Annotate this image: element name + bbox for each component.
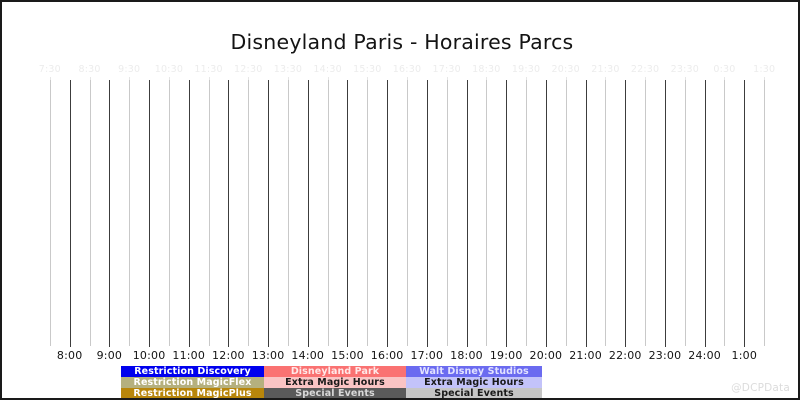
bottom-tick-mark — [149, 342, 150, 347]
gridline-minor — [447, 80, 448, 342]
bottom-tick-label: 15:00 — [331, 349, 364, 362]
gridline-minor — [685, 80, 686, 342]
legend-item-special-events[interactable]: Special Events — [406, 388, 542, 399]
gridline-minor — [169, 80, 170, 342]
gridline-minor — [209, 80, 210, 342]
gridline-major — [70, 80, 71, 342]
bottom-tick-mark — [347, 342, 348, 347]
gridline-minor — [248, 80, 249, 342]
gridline-minor — [724, 80, 725, 342]
gridline-major — [387, 80, 388, 342]
bottom-time-axis: 8:009:0010:0011:0012:0013:0014:0015:0016… — [30, 342, 784, 364]
bottom-tick-label: 10:00 — [133, 349, 166, 362]
bottom-minor-tick-mark — [526, 342, 527, 346]
bottom-minor-tick-mark — [248, 342, 249, 346]
bottom-tick-label: 12:00 — [212, 349, 245, 362]
top-tick-label: 9:30 — [118, 64, 140, 75]
gridline-major — [347, 80, 348, 342]
bottom-tick-mark — [427, 342, 428, 347]
bottom-tick-mark — [189, 342, 190, 347]
bottom-minor-tick-mark — [447, 342, 448, 346]
bottom-minor-tick-mark — [367, 342, 368, 346]
top-tick-label: 7:30 — [39, 64, 61, 75]
chart-figure: Disneyland Paris - Horaires Parcs 7:308:… — [0, 0, 800, 400]
top-tick-label: 19:30 — [512, 64, 540, 75]
top-tick-label: 1:30 — [753, 64, 775, 75]
bottom-tick-label: 18:00 — [450, 349, 483, 362]
bottom-tick-label: 13:00 — [252, 349, 285, 362]
watermark: @DCPData — [731, 382, 790, 394]
bottom-tick-label: 20:00 — [530, 349, 563, 362]
bottom-minor-tick-mark — [209, 342, 210, 346]
bottom-tick-mark — [228, 342, 229, 347]
top-tick-label: 15:30 — [353, 64, 381, 75]
bottom-minor-tick-mark — [288, 342, 289, 346]
top-tick-label: 17:30 — [432, 64, 460, 75]
legend-item-special-events[interactable]: Special Events — [264, 388, 406, 399]
bottom-tick-mark — [546, 342, 547, 347]
gridline-minor — [90, 80, 91, 342]
bottom-tick-label: 9:00 — [97, 349, 123, 362]
top-tick-label: 12:30 — [234, 64, 262, 75]
bottom-minor-tick-mark — [90, 342, 91, 346]
gridline-major — [189, 80, 190, 342]
gridline-minor — [486, 80, 487, 342]
gridline-minor — [129, 80, 130, 342]
gridline-major — [744, 80, 745, 342]
bottom-tick-label: 24:00 — [688, 349, 721, 362]
bottom-tick-label: 1:00 — [732, 349, 758, 362]
gridline-minor — [288, 80, 289, 342]
bottom-tick-label: 14:00 — [291, 349, 324, 362]
top-tick-label: 16:30 — [393, 64, 421, 75]
gridline-minor — [605, 80, 606, 342]
gridline-major — [546, 80, 547, 342]
bottom-tick-mark — [467, 342, 468, 347]
bottom-minor-tick-mark — [129, 342, 130, 346]
top-tick-label: 21:30 — [591, 64, 619, 75]
bottom-tick-label: 21:00 — [569, 349, 602, 362]
bottom-tick-label: 19:00 — [490, 349, 523, 362]
bottom-minor-tick-mark — [724, 342, 725, 346]
top-time-axis: 7:308:309:3010:3011:3012:3013:3014:3015:… — [30, 64, 784, 80]
legend-item-extra-magic-hours[interactable]: Extra Magic Hours — [406, 377, 542, 388]
legend-item-walt-disney-studios[interactable]: Walt Disney Studios — [406, 366, 542, 377]
gridline-minor — [407, 80, 408, 342]
legend-item-restriction-magicflex[interactable]: Restriction MagicFlex — [121, 377, 264, 388]
legend-item-extra-magic-hours[interactable]: Extra Magic Hours — [264, 377, 406, 388]
bottom-tick-mark — [665, 342, 666, 347]
gridline-minor — [566, 80, 567, 342]
gridline-minor — [645, 80, 646, 342]
bottom-tick-mark — [70, 342, 71, 347]
gridline-minor — [50, 80, 51, 342]
page-title: Disneyland Paris - Horaires Parcs — [2, 30, 800, 54]
bottom-tick-mark — [625, 342, 626, 347]
top-tick-label: 10:30 — [155, 64, 183, 75]
gridline-minor — [526, 80, 527, 342]
top-tick-label: 20:30 — [552, 64, 580, 75]
bottom-tick-label: 16:00 — [371, 349, 404, 362]
bottom-tick-label: 22:00 — [609, 349, 642, 362]
gridline-major — [308, 80, 309, 342]
chart-legend: Restriction DiscoveryDisneyland ParkWalt… — [121, 366, 542, 400]
bottom-tick-mark — [268, 342, 269, 347]
bottom-tick-mark — [506, 342, 507, 347]
bottom-minor-tick-mark — [328, 342, 329, 346]
gridline-major — [705, 80, 706, 342]
gridline-major — [625, 80, 626, 342]
bottom-tick-mark — [109, 342, 110, 347]
bottom-minor-tick-mark — [169, 342, 170, 346]
top-tick-label: 0:30 — [713, 64, 735, 75]
bottom-minor-tick-mark — [645, 342, 646, 346]
bottom-tick-mark — [308, 342, 309, 347]
bottom-minor-tick-mark — [50, 342, 51, 346]
legend-item-restriction-magicplus[interactable]: Restriction MagicPlus — [121, 388, 264, 399]
bottom-tick-label: 23:00 — [649, 349, 682, 362]
gridline-major — [506, 80, 507, 342]
top-tick-label: 23:30 — [671, 64, 699, 75]
gridline-major — [427, 80, 428, 342]
bottom-tick-mark — [586, 342, 587, 347]
top-tick-label: 8:30 — [78, 64, 100, 75]
top-tick-label: 22:30 — [631, 64, 659, 75]
bottom-tick-label: 8:00 — [57, 349, 83, 362]
gridline-major — [268, 80, 269, 342]
gridline-major — [228, 80, 229, 342]
legend-item-disneyland-park[interactable]: Disneyland Park — [264, 366, 406, 377]
top-tick-label: 14:30 — [313, 64, 341, 75]
bottom-minor-tick-mark — [685, 342, 686, 346]
gridline-major — [586, 80, 587, 342]
gridline-major — [149, 80, 150, 342]
bottom-minor-tick-mark — [605, 342, 606, 346]
top-tick-label: 11:30 — [194, 64, 222, 75]
bottom-minor-tick-mark — [486, 342, 487, 346]
gridline-major — [665, 80, 666, 342]
bottom-minor-tick-mark — [764, 342, 765, 346]
bottom-tick-label: 11:00 — [172, 349, 205, 362]
gridline-minor — [367, 80, 368, 342]
gridline-major — [109, 80, 110, 342]
top-tick-label: 18:30 — [472, 64, 500, 75]
bottom-minor-tick-mark — [407, 342, 408, 346]
gridline-minor — [764, 80, 765, 342]
legend-item-restriction-discovery[interactable]: Restriction Discovery — [121, 366, 264, 377]
top-tick-label: 13:30 — [274, 64, 302, 75]
gridline-major — [467, 80, 468, 342]
bottom-minor-tick-mark — [566, 342, 567, 346]
bottom-tick-label: 17:00 — [410, 349, 443, 362]
gridline-minor — [328, 80, 329, 342]
bottom-tick-mark — [705, 342, 706, 347]
bottom-tick-mark — [387, 342, 388, 347]
bottom-tick-mark — [744, 342, 745, 347]
timeline-plot-area — [30, 80, 784, 342]
